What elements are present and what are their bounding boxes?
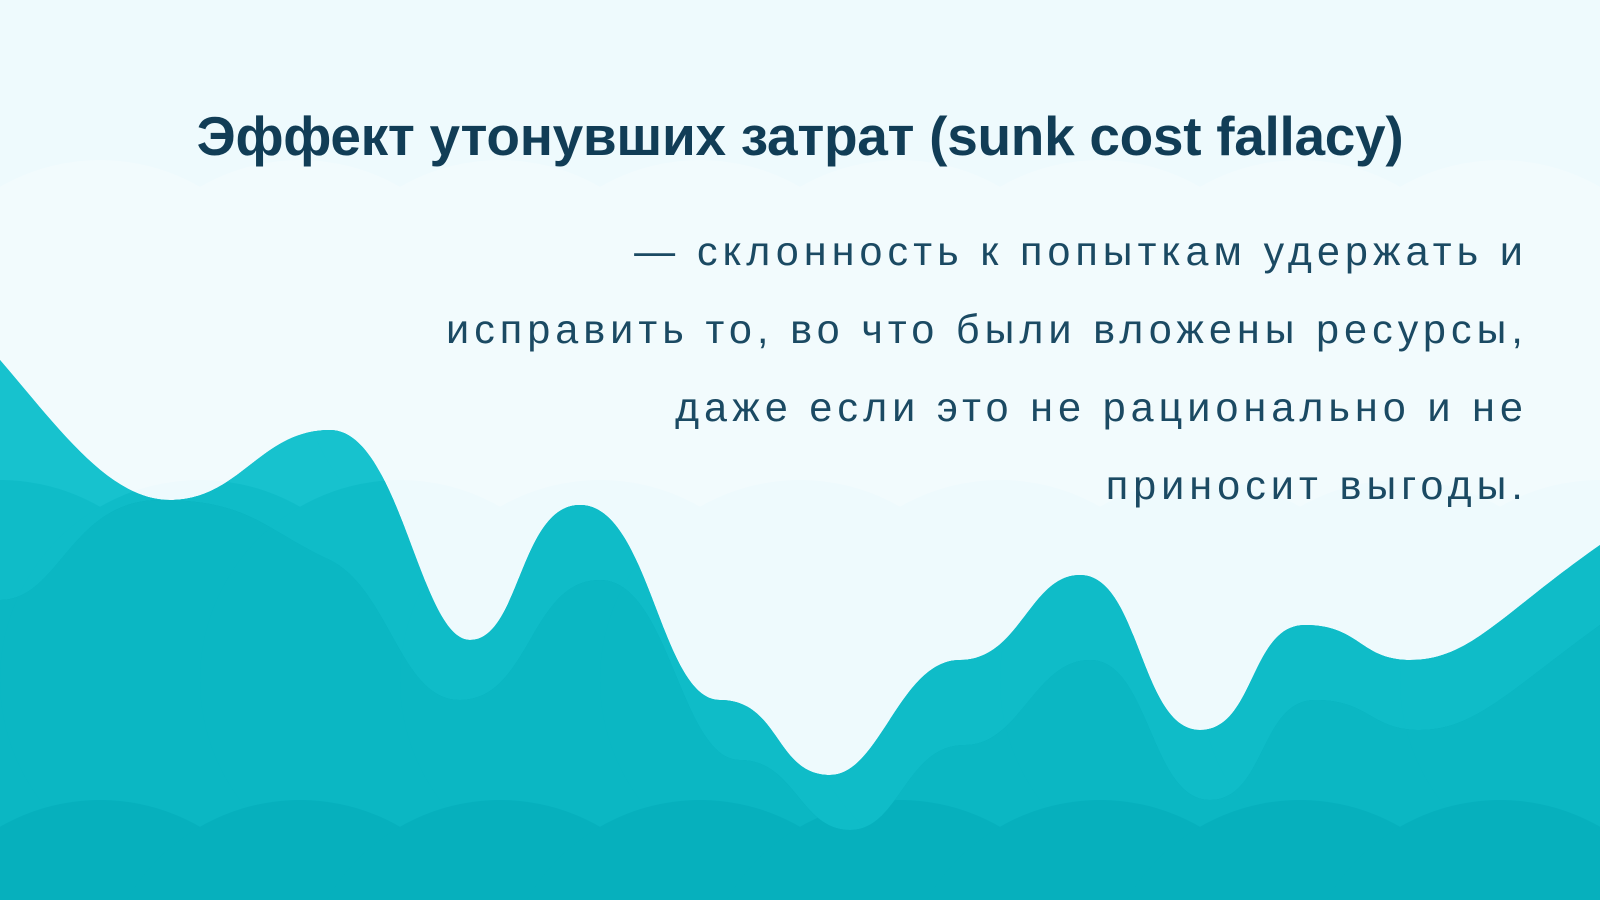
slide-canvas: Эффект утонувших затрат (sunk cost falla… bbox=[0, 0, 1600, 900]
wave-back-petal-tint-2 bbox=[0, 480, 1600, 880]
definition-line: приносит выгоды. bbox=[72, 446, 1528, 524]
slide-title: Эффект утонувших затрат (sunk cost falla… bbox=[72, 0, 1528, 166]
definition-line: даже если это не рационально и не bbox=[72, 368, 1528, 446]
petal-circles-row-3 bbox=[0, 480, 1600, 880]
petal-circles-row-4 bbox=[0, 800, 1600, 900]
definition-line: — склонность к попыткам удержать и bbox=[72, 212, 1528, 290]
text-content-block: Эффект утонувших затрат (sunk cost falla… bbox=[0, 0, 1600, 524]
slide-definition-paragraph: — склонность к попыткам удержать и испра… bbox=[72, 166, 1528, 524]
definition-line: исправить то, во что были вложены ресурс… bbox=[72, 290, 1528, 368]
wave-front-petal-tint bbox=[0, 480, 1600, 880]
wave-front-petal-tint-2 bbox=[0, 800, 1600, 900]
